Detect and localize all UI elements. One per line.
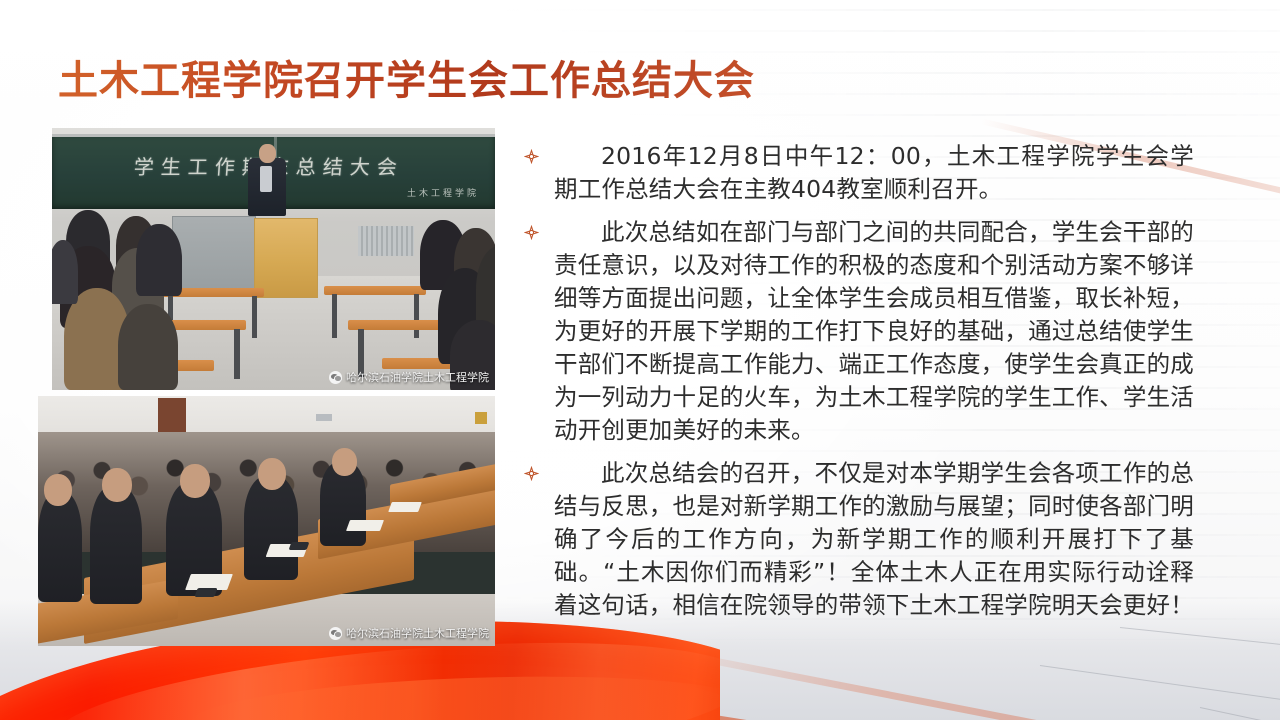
photo-door (158, 398, 186, 432)
photo-watermark: 哈尔滨石油学院土木工程学院 (329, 369, 489, 385)
photo-audience (52, 240, 78, 304)
wechat-logo-icon (329, 627, 342, 640)
photo-student-head (180, 464, 210, 498)
diagonal-hairline (1200, 707, 1280, 720)
paragraph-text: 此次总结会的召开，不仅是对本学期学生会各项工作的总结与反思，也是对新学期工作的激… (554, 459, 1194, 619)
body-paragraph: 2016年12月8日中午12：00，土木工程学院学生会学期工作总结大会在主教40… (524, 140, 1194, 206)
lecture-hall-audience-photo: 哈尔滨石油学院土木工程学院 (38, 396, 495, 646)
body-paragraph: 此次总结会的召开，不仅是对本学期学生会各项工作的总结与反思，也是对新学期工作的激… (524, 457, 1194, 622)
wechat-logo-icon (329, 371, 342, 384)
photo-student-head (258, 458, 286, 490)
photo-desk-leg (332, 294, 337, 338)
photo-student-head (102, 468, 132, 502)
photo-desk (324, 286, 426, 295)
photo-wall-sign (316, 414, 332, 421)
presentation-slide: 土木工程学院召开学生会工作总结大会 学生工作期末总结大会 土木工程学院 (0, 0, 1280, 720)
photo-student (90, 486, 142, 604)
paragraph-text: 2016年12月8日中午12：00，土木工程学院学生会学期工作总结大会在主教40… (554, 142, 1194, 203)
photo-student (244, 476, 298, 580)
photo-student-head (44, 474, 72, 506)
photo-watermark: 哈尔滨石油学院土木工程学院 (329, 625, 489, 641)
photo-radiator (358, 226, 414, 256)
photo-paper (388, 502, 422, 512)
photo-desk-leg (414, 294, 419, 338)
bullet-diamond-icon (524, 466, 539, 481)
watermark-text: 哈尔滨石油学院土木工程学院 (346, 625, 489, 641)
photo-desk-leg (252, 296, 257, 338)
diagonal-hairline (1120, 627, 1280, 705)
photo-student (38, 492, 82, 602)
classroom-speaker-photo: 学生工作期末总结大会 土木工程学院 (52, 128, 495, 390)
photo-wall-plaque (475, 412, 487, 424)
paragraph-text: 此次总结如在部门与部门之间的共同配合，学生会干部的责任意识，以及对待工作的积极的… (554, 218, 1194, 444)
photo-podium-desk (254, 218, 318, 298)
photo-desk-leg (234, 329, 240, 379)
watermark-text: 哈尔滨石油学院土木工程学院 (346, 369, 489, 385)
body-content: 2016年12月8日中午12：00，土木工程学院学生会学期工作总结大会在主教40… (524, 140, 1194, 632)
bullet-diamond-icon (524, 149, 539, 164)
photo-speaker-shirt (260, 166, 272, 192)
photo-phone (289, 542, 310, 550)
photo-paper (346, 520, 384, 531)
page-title: 土木工程学院召开学生会工作总结大会 (58, 58, 755, 104)
photo-audience (136, 224, 182, 296)
photo-phone (194, 588, 217, 597)
diagonal-hairline (1040, 665, 1280, 720)
photo-student-head (332, 448, 357, 476)
photo-cabinet (172, 216, 256, 296)
photo-audience (118, 304, 178, 390)
blackboard-signature-text: 土木工程学院 (407, 186, 479, 199)
bullet-diamond-icon (524, 225, 539, 240)
photo-speaker-head (259, 144, 276, 163)
body-paragraph: 此次总结如在部门与部门之间的共同配合，学生会干部的责任意识，以及对待工作的积极的… (524, 216, 1194, 447)
